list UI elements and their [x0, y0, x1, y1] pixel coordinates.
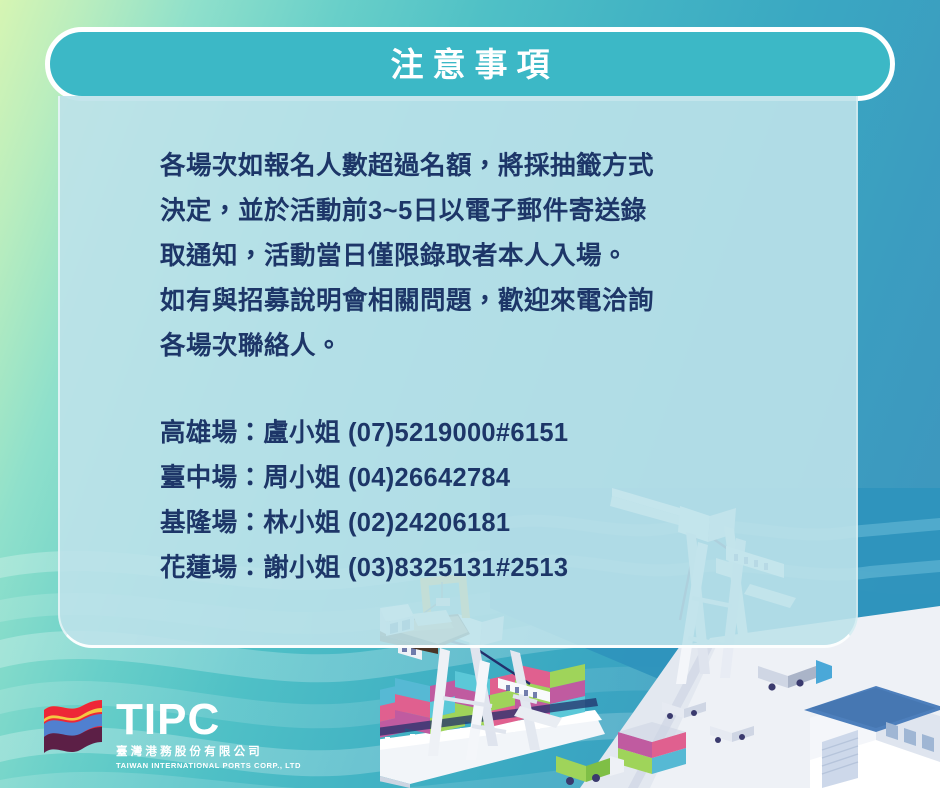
contact-list: 高雄場：盧小姐 (07)5219000#6151 臺中場：周小姐 (04)266…: [160, 411, 794, 591]
tipc-flag-icon: [42, 698, 104, 758]
list-item: 花蓮場：謝小姐 (03)8325131#2513: [160, 546, 794, 591]
notice-paragraph-line: 各場次聯絡人。: [160, 324, 794, 369]
tipc-name-zh: 臺灣港務股份有限公司: [116, 745, 301, 760]
tipc-wordmark: TIPC: [116, 700, 301, 740]
notice-paragraph: 各場次如報名人數超過名額，將採抽籤方式 決定，並於活動前3~5日以電子郵件寄送錄…: [160, 144, 794, 369]
page-title: 注意事項: [382, 48, 559, 81]
notice-paragraph-line: 各場次如報名人數超過名額，將採抽籤方式: [160, 144, 794, 189]
list-item: 高雄場：盧小姐 (07)5219000#6151: [160, 411, 794, 456]
notice-header-pill: 注意事項: [45, 27, 895, 101]
tipc-logo-text: TIPC 臺灣港務股份有限公司 TAIWAN INTERNATIONAL POR…: [116, 698, 301, 771]
tipc-logo: TIPC 臺灣港務股份有限公司 TAIWAN INTERNATIONAL POR…: [42, 698, 301, 771]
notice-body-panel: 各場次如報名人數超過名額，將採抽籤方式 決定，並於活動前3~5日以電子郵件寄送錄…: [58, 96, 858, 648]
tipc-name-en: TAIWAN INTERNATIONAL PORTS CORP., LTD: [116, 761, 301, 771]
poster-canvas: 注意事項 各場次如報名人數超過名額，將採抽籤方式 決定，並於活動前3~5日以電子…: [0, 0, 940, 788]
notice-paragraph-line: 如有與招募說明會相關問題，歡迎來電洽詢: [160, 279, 794, 324]
list-item: 臺中場：周小姐 (04)26642784: [160, 456, 794, 501]
list-item: 基隆場：林小姐 (02)24206181: [160, 501, 794, 546]
notice-paragraph-line: 決定，並於活動前3~5日以電子郵件寄送錄: [160, 189, 794, 234]
notice-paragraph-line: 取通知，活動當日僅限錄取者本人入場。: [160, 234, 794, 279]
